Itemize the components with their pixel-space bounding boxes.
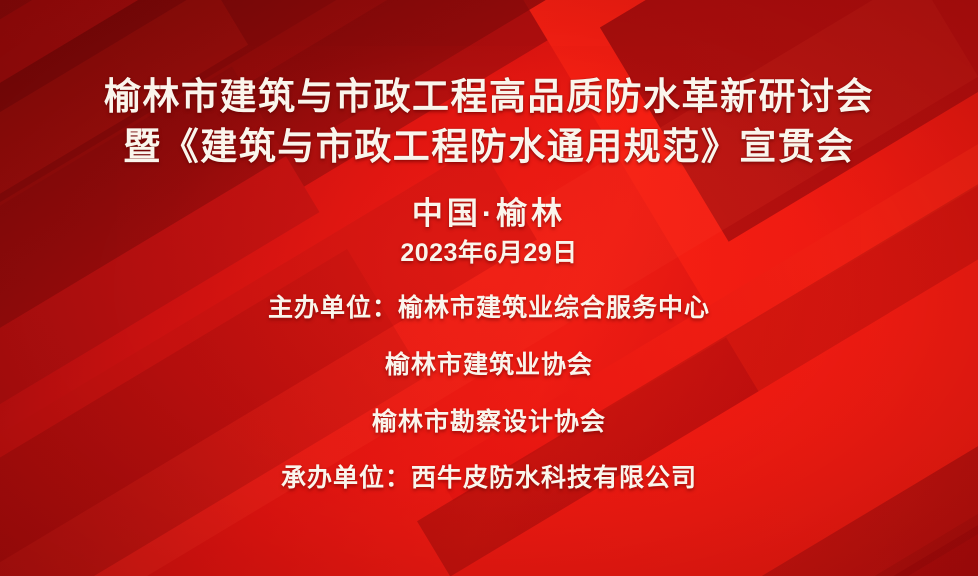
banner-organizer-line-survey-design-association: 榆林市勘察设计协会 <box>0 410 978 435</box>
banner-location: 中国·榆林 <box>0 198 978 229</box>
conference-banner: 榆林市建筑与市政工程高品质防水革新研讨会 暨《建筑与市政工程防水通用规范》宣贯会… <box>0 0 978 576</box>
banner-title-line-1: 榆林市建筑与市政工程高品质防水革新研讨会 <box>0 78 978 115</box>
banner-organizer-line-host-main: 主办单位：榆林市建筑业综合服务中心 <box>0 296 978 321</box>
banner-title-line-2: 暨《建筑与市政工程防水通用规范》宣贯会 <box>0 128 978 165</box>
banner-content: 榆林市建筑与市政工程高品质防水革新研讨会 暨《建筑与市政工程防水通用规范》宣贯会… <box>0 0 978 576</box>
banner-organizer-line-construction-association: 榆林市建筑业协会 <box>0 353 978 378</box>
banner-organizer-line-co-host: 承办单位：西牛皮防水科技有限公司 <box>0 466 978 491</box>
banner-date: 2023年6月29日 <box>0 241 978 266</box>
